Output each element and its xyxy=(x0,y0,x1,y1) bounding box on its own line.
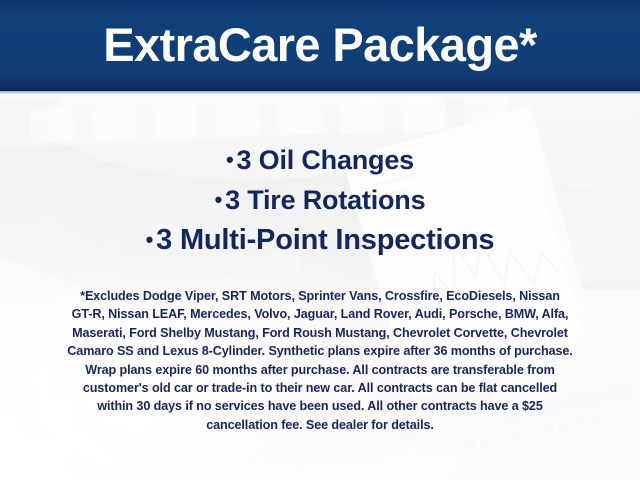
disclaimer-line: cancellation fee. See dealer for details… xyxy=(26,416,614,434)
benefits-list: •3 Oil Changes •3 Tire Rotations •3 Mult… xyxy=(0,140,640,260)
disclaimer-text: *Excludes Dodge Viper, SRT Motors, Sprin… xyxy=(26,287,614,434)
bullet-icon: • xyxy=(215,187,226,212)
bullet-icon: • xyxy=(146,227,157,252)
disclaimer-line: customer's old car or trade-in to their … xyxy=(26,379,614,397)
benefit-label: 3 Oil Changes xyxy=(237,145,414,175)
disclaimer-line: GT-R, Nissan LEAF, Mercedes, Volvo, Jagu… xyxy=(26,305,614,323)
extracare-package-ad: ExtraCare Package* •3 Oil Changes •3 Tir… xyxy=(0,0,640,480)
disclaimer-line: Maserati, Ford Shelby Mustang, Ford Rous… xyxy=(26,324,614,342)
disclaimer-line: *Excludes Dodge Viper, SRT Motors, Sprin… xyxy=(26,287,614,305)
disclaimer-line: Wrap plans expire 60 months after purcha… xyxy=(26,361,614,379)
page-title: ExtraCare Package* xyxy=(0,14,640,76)
disclaimer-line: Camaro SS and Lexus 8-Cylinder. Syntheti… xyxy=(26,342,614,360)
bullet-icon: • xyxy=(226,147,237,172)
benefit-label: 3 Tire Rotations xyxy=(225,185,425,215)
benefit-item: •3 Multi-Point Inspections xyxy=(0,220,640,260)
disclaimer-line: within 30 days if no services have been … xyxy=(26,397,614,415)
benefit-label: 3 Multi-Point Inspections xyxy=(156,224,494,256)
header-divider xyxy=(0,91,640,94)
benefit-item: •3 Oil Changes xyxy=(0,140,640,180)
benefit-item: •3 Tire Rotations xyxy=(0,180,640,220)
